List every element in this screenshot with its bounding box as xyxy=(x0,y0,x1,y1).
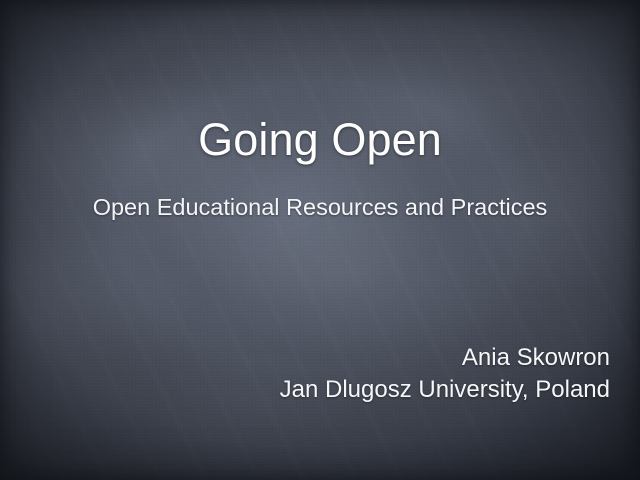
slide-subtitle: Open Educational Resources and Practices xyxy=(0,194,640,221)
slide-content: Going Open Open Educational Resources an… xyxy=(0,0,640,480)
author-affiliation: Jan Dlugosz University, Poland xyxy=(0,374,610,406)
author-block: Ania Skowron Jan Dlugosz University, Pol… xyxy=(0,342,610,406)
author-name: Ania Skowron xyxy=(0,342,610,374)
slide-title: Going Open xyxy=(0,114,640,166)
presentation-title-slide: Going Open Open Educational Resources an… xyxy=(0,0,640,480)
